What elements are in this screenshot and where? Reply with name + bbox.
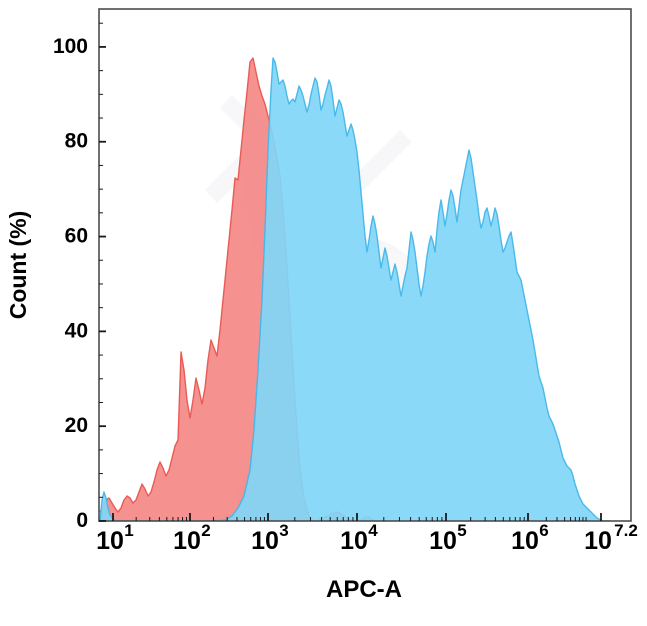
x-tick-exponent: 2 xyxy=(201,521,210,540)
chart-canvas: 020406080100Count (%)1011021031041051061… xyxy=(0,0,647,621)
x-tick-exponent: 1 xyxy=(124,521,133,540)
x-tick-mantissa: 10 xyxy=(173,527,201,555)
y-tick-label: 60 xyxy=(65,225,88,248)
x-tick-exponent: 5 xyxy=(457,521,466,540)
x-tick-mantissa: 10 xyxy=(584,527,612,555)
x-tick-mantissa: 10 xyxy=(340,527,368,555)
y-tick-label: 100 xyxy=(53,35,88,58)
y-axis-title: Count (%) xyxy=(5,211,31,320)
x-tick-exponent: 6 xyxy=(539,521,548,540)
x-tick-mantissa: 10 xyxy=(511,527,539,555)
y-tick-label: 40 xyxy=(65,319,88,342)
flow-cytometry-histogram: 020406080100Count (%)1011021031041051061… xyxy=(0,0,647,621)
x-tick-exponent: 3 xyxy=(279,521,288,540)
x-axis-title: APC-A xyxy=(326,576,402,603)
y-tick-label: 0 xyxy=(76,509,88,532)
x-tick-mantissa: 10 xyxy=(251,527,279,555)
y-tick-label: 20 xyxy=(65,414,88,437)
x-tick-mantissa: 10 xyxy=(96,527,124,555)
x-tick-mantissa: 10 xyxy=(429,527,457,555)
x-tick-exponent: 7.2 xyxy=(614,521,638,540)
y-tick-label: 80 xyxy=(65,130,88,153)
x-tick-exponent: 4 xyxy=(368,521,378,540)
